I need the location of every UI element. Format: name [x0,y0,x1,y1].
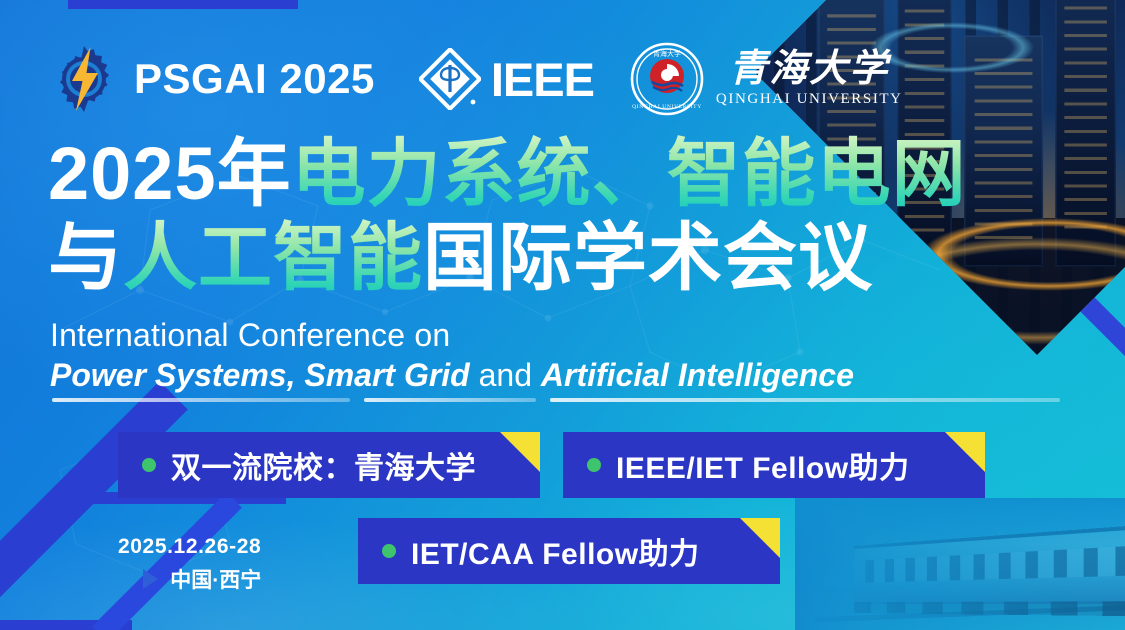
conference-title: 2025年电力系统、智能电网 与人工智能国际学术会议 [48,132,967,301]
title-line-1: 2025年电力系统、智能电网 [48,132,967,216]
event-location-row: 中国·西宁 [118,564,261,594]
ieee-wordmark: IEEE [491,52,594,107]
bullet-dot-icon [382,544,396,558]
psgai-logo: PSGAI 2025 [48,43,375,115]
psgai-wordmark: PSGAI 2025 [134,55,375,103]
subtitle-conjunction: and [470,357,541,393]
conference-banner: PSGAI 2025 IEEE [0,0,1125,630]
conference-subtitle: International Conference on Power System… [50,316,854,397]
subtitle-underline-row [52,398,1064,402]
title-line1-topics: 电力系统、智能电网 [292,132,967,215]
bullet-dot-icon [587,458,601,472]
subtitle-topic-1: Power Systems, Smart Grid [50,357,470,393]
title-line1-year: 2025年 [48,132,292,215]
qinghai-university-logo: 青海大学 QINGHAI UNIVERSITY 青海大学 QINGHAI UNI… [630,42,903,116]
feature-badge-iet-caa-fellow[interactable]: IET/CAA Fellow助力 [358,518,780,584]
svg-text:QINGHAI UNIVERSITY: QINGHAI UNIVERSITY [632,104,702,110]
feature-badge-university[interactable]: 双一流院校：青海大学 [118,432,540,498]
title-line-2: 与人工智能国际学术会议 [48,216,967,300]
subtitle-topic-2: Artificial Intelligence [541,357,854,393]
subtitle-underline-2 [364,398,536,402]
feature-badge-label: 双一流院校：青海大学 [171,443,476,487]
ieee-diamond-icon [419,48,481,110]
title-line2-conj: 与 [48,216,123,299]
event-date-location: 2025.12.26-28 中国·西宁 [118,535,261,594]
svg-text:青海大学: 青海大学 [653,49,681,58]
title-line2-tail: 国际学术会议 [423,216,873,299]
subtitle-underline-1 [52,398,350,402]
logo-row: PSGAI 2025 IEEE [48,40,903,118]
qinghai-university-names: 青海大学 QINGHAI UNIVERSITY [716,50,903,108]
play-triangle-icon [143,569,158,589]
qinghai-university-name-cn: 青海大学 [729,50,889,90]
feature-badge-label: IET/CAA Fellow助力 [411,529,700,573]
event-location: 中国·西宁 [170,564,261,594]
title-line2-ai: 人工智能 [123,216,423,299]
subtitle-line-2: Power Systems, Smart Grid and Artificial… [50,355,854,397]
subtitle-underline-3 [550,398,1060,402]
feature-badge-label: IEEE/IET Fellow助力 [616,443,910,487]
subtitle-line-1: International Conference on [50,316,854,355]
gear-lightning-icon [48,43,120,115]
ieee-logo: IEEE [419,48,594,110]
qinghai-university-name-en: QINGHAI UNIVERSITY [716,91,903,108]
event-date: 2025.12.26-28 [118,535,261,559]
feature-badge-ieee-iet-fellow[interactable]: IEEE/IET Fellow助力 [563,432,985,498]
train-image [795,498,1125,630]
accent-bar-top-left [68,0,298,9]
qinghai-university-seal-icon: 青海大学 QINGHAI UNIVERSITY [630,42,704,116]
bullet-dot-icon [142,458,156,472]
